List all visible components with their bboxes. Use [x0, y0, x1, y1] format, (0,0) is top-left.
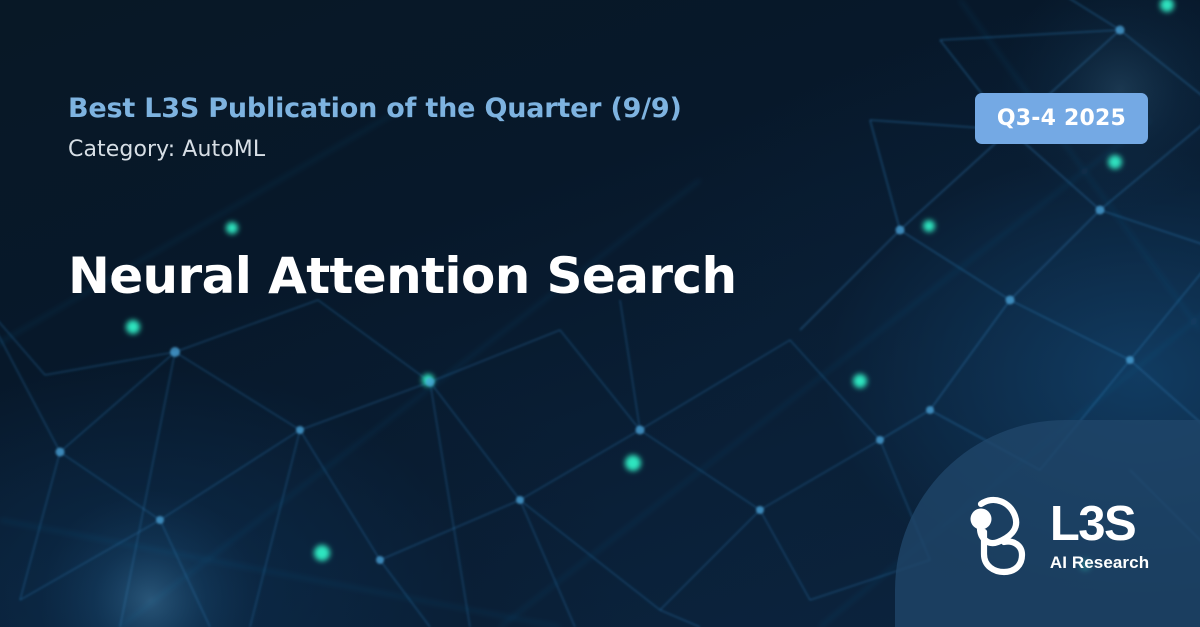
publication-announcement-card: Best L3S Publication of the Quarter (9/9… [0, 0, 1200, 627]
network-node-glow [625, 455, 641, 471]
network-node-glow [314, 545, 330, 561]
logo-subtitle: AI Research [1050, 553, 1149, 573]
award-title: Best L3S Publication of the Quarter (9/9… [68, 93, 868, 125]
network-node-glow [1160, 0, 1174, 12]
ambient-glow [40, 490, 260, 627]
network-node-glow [126, 320, 140, 334]
network-node-glow [923, 220, 935, 232]
logo-panel: L3S AI Research [895, 420, 1200, 627]
network-node-glow [1108, 155, 1122, 169]
network-node-glow [422, 374, 434, 386]
network-node-glow [853, 374, 867, 388]
logo-text-block: L3S AI Research [1050, 502, 1149, 572]
header-block: Best L3S Publication of the Quarter (9/9… [68, 93, 868, 164]
quarter-badge: Q3-4 2025 [975, 93, 1148, 144]
category-label: Category: AutoML [68, 137, 868, 163]
l3s-loop-mark-icon [964, 492, 1036, 584]
publication-title: Neural Attention Search [68, 248, 928, 306]
network-node-glow [226, 222, 238, 234]
logo-wordmark: L3S [1050, 502, 1135, 547]
